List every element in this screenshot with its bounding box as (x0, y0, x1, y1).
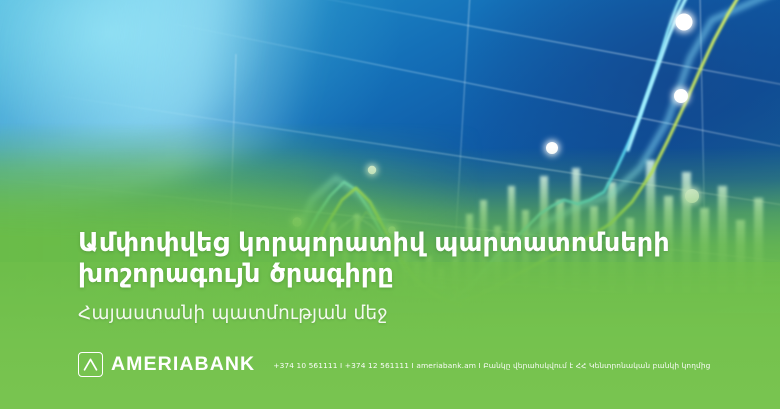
logo-wordmark: AMERIABANK (111, 355, 255, 375)
headline-line-1: Ամփոփվեց կորպորատիվ պարտատոմսերի (78, 228, 670, 259)
promotional-banner: Ամփոփվեց կորպորատիվ պարտատոմսերի խոշորագ… (0, 0, 780, 409)
lambda-chevron-icon (78, 352, 103, 377)
footer: AMERIABANK +374 10 561111 I +374 12 5611… (78, 352, 710, 377)
divider (78, 341, 780, 342)
subtitle: Հայաստանի պատմության մեջ (78, 303, 388, 325)
headline-line-2: խոշորագույն ծրագիրը (78, 259, 670, 290)
fineprint-contact: +374 10 561111 I +374 12 561111 I ameria… (273, 359, 710, 371)
ameriabank-logo[interactable]: AMERIABANK (78, 352, 255, 377)
headline: Ամփոփվեց կորպորատիվ պարտատոմսերի խոշորագ… (78, 228, 670, 290)
banner-content: Ամփոփվեց կորպորատիվ պարտատոմսերի խոշորագ… (0, 0, 780, 409)
